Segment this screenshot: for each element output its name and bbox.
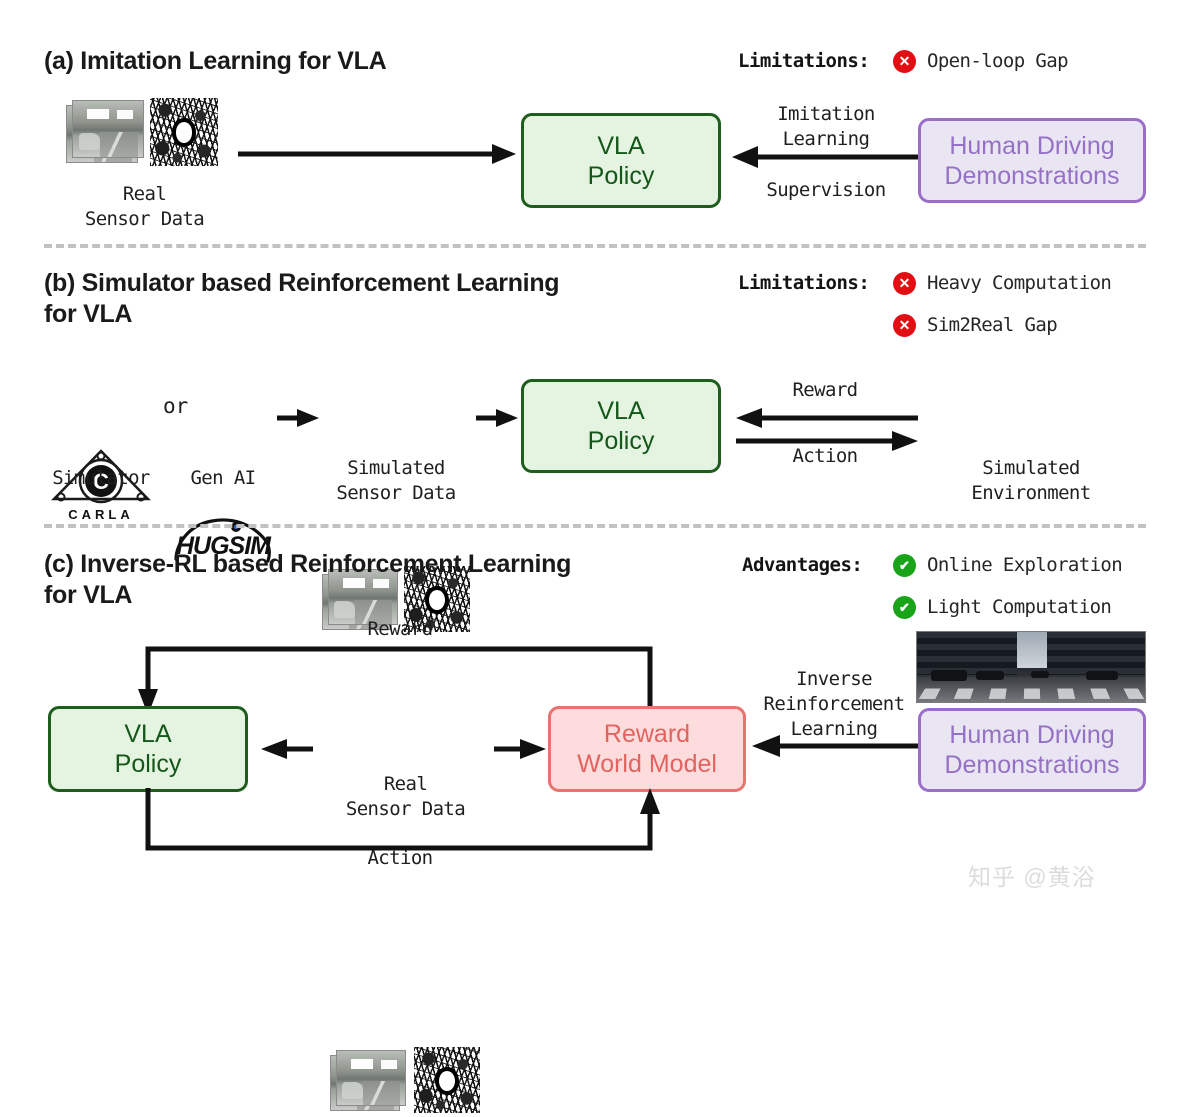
note-item: ✕ Heavy Computation <box>893 268 1111 298</box>
arrow-sensor-to-policy-b <box>476 407 518 429</box>
carla-wordmark: CARLA <box>48 507 154 522</box>
note-item: ✔ Light Computation <box>893 592 1122 622</box>
simulated-sensor-data-caption: Simulated Sensor Data <box>300 456 492 506</box>
section-c-title: (c) Inverse-RL based Reinforcement Learn… <box>44 549 571 611</box>
real-sensor-data-thumbnail-a <box>62 95 222 170</box>
reward-loop-label: Reward <box>300 617 500 642</box>
real-sensor-data-thumbnail-c <box>326 1045 486 1117</box>
arrow-reward-b <box>736 408 918 428</box>
section-a-title: (a) Imitation Learning for VLA <box>44 46 386 77</box>
x-circle-icon: ✕ <box>893 50 916 73</box>
real-sensor-data-caption-a: Real Sensor Data <box>42 182 247 232</box>
human-driving-demonstrations-box-a[interactable]: Human Driving Demonstrations <box>918 118 1146 203</box>
inverse-rl-label: Inverse Reinforcement Learning <box>748 667 920 742</box>
arrow-sensor-to-policy-a <box>238 142 518 166</box>
note-label: Light Computation <box>927 596 1111 618</box>
or-label: or <box>163 394 188 418</box>
arrow-sensor-to-reward-c <box>494 738 546 760</box>
note-item: ✕ Open-loop Gap <box>893 46 1068 76</box>
x-circle-icon: ✕ <box>893 314 916 337</box>
camera-image-icon <box>72 100 144 158</box>
arrow-demos-to-reward-c <box>752 735 918 757</box>
section-divider-2 <box>44 524 1146 528</box>
note-label: Heavy Computation <box>927 272 1111 294</box>
section-b-notes-label: Limitations: <box>738 272 869 294</box>
section-b-notes-list: ✕ Heavy Computation ✕ Sim2Real Gap <box>893 268 1111 340</box>
vla-policy-box-c[interactable]: VLA Policy <box>48 706 248 792</box>
section-c-notes-label: Advantages: <box>742 554 862 576</box>
supervision-label: Supervision <box>742 178 910 203</box>
lidar-pointcloud-icon <box>150 98 218 166</box>
reward-world-model-box[interactable]: Reward World Model <box>548 706 746 792</box>
check-circle-icon: ✔ <box>893 554 916 577</box>
section-a-notes-label: Limitations: <box>738 50 869 72</box>
simulated-environment-image <box>916 631 1146 703</box>
action-loop-label: Action <box>300 846 500 871</box>
note-label: Online Exploration <box>927 554 1122 576</box>
note-item: ✕ Sim2Real Gap <box>893 310 1111 340</box>
arrow-simulator-to-sensor-b <box>277 407 319 429</box>
section-c-notes-list: ✔ Online Exploration ✔ Light Computation <box>893 550 1122 622</box>
simulator-caption: Simulator <box>34 466 168 491</box>
section-a-notes-list: ✕ Open-loop Gap <box>893 46 1068 76</box>
arrow-demos-to-policy-a <box>732 145 918 169</box>
section-b-title: (b) Simulator based Reinforcement Learni… <box>44 268 559 330</box>
note-label: Open-loop Gap <box>927 50 1068 72</box>
camera-image-icon <box>336 1050 406 1106</box>
check-circle-icon: ✔ <box>893 596 916 619</box>
lidar-pointcloud-icon <box>414 1047 480 1113</box>
note-item: ✔ Online Exploration <box>893 550 1122 580</box>
section-divider-1 <box>44 244 1146 248</box>
note-label: Sim2Real Gap <box>927 314 1057 336</box>
reward-label-b: Reward <box>742 378 908 403</box>
vla-policy-box-b[interactable]: VLA Policy <box>521 379 721 473</box>
watermark: 知乎 @黄浴 <box>968 858 1096 892</box>
simulated-environment-caption: Simulated Environment <box>916 456 1146 506</box>
genai-caption: Gen AI <box>168 466 278 491</box>
x-circle-icon: ✕ <box>893 272 916 295</box>
human-driving-demonstrations-box-c[interactable]: Human Driving Demonstrations <box>918 708 1146 792</box>
arrow-sensor-to-policy-c <box>261 738 313 760</box>
action-label-b: Action <box>742 444 908 469</box>
vla-policy-box-a[interactable]: VLA Policy <box>521 113 721 208</box>
